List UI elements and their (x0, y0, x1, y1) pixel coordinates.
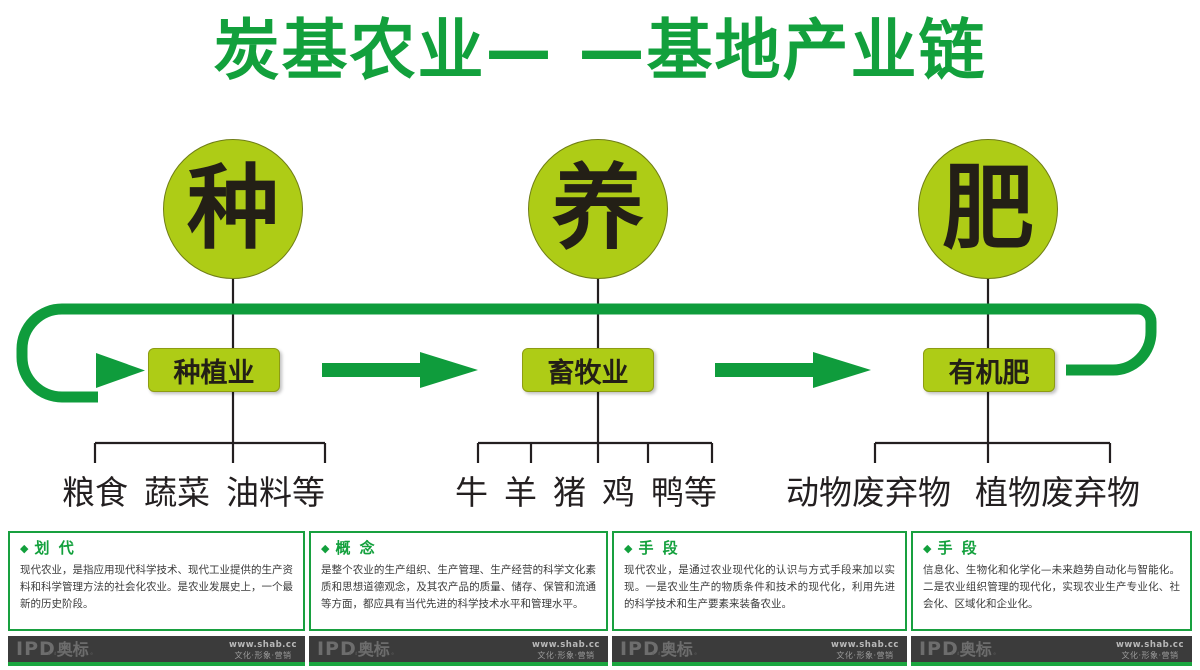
note-panel-concept-body: 是整个农业的生产组织、生产管理、生产经营的科学文化素质和思想道德观念，及其农产品… (321, 562, 596, 613)
circle-node-fertilizer[interactable]: 肥 (918, 139, 1058, 279)
note-panels: ◆划 代 现代农业，是指应用现代科学技术、现代工业提供的生产资料和科学管理方法的… (8, 531, 1192, 631)
leaf-item: 油料等 (226, 466, 325, 514)
footer-slogan: 文化·形象·营销 (1116, 651, 1184, 661)
leaf-item: 鸡 (602, 466, 635, 514)
note-panel-means-1-body: 现代农业，是通过农业现代化的认识与方式手段来加以实现。一是农业生产的物质条件和技… (624, 562, 895, 613)
brand-logo: IPD 奥标 a d v e r t i s e (317, 640, 390, 659)
loop-arrowhead (96, 353, 145, 388)
note-panel-means-2-heading-text: 手 段 (937, 539, 978, 557)
footer-url[interactable]: www.shab.cc (229, 640, 297, 651)
footer-url[interactable]: www.shab.cc (1116, 640, 1184, 651)
footer-cell: IPD 奥标 a d v e r t i s e www.shab.cc 文化·… (309, 636, 608, 666)
arrow-2-shaft (715, 363, 825, 377)
brand-logo: IPD 奥标 a d v e r t i s e (16, 640, 89, 659)
leaf-item: 粮食 (62, 466, 128, 514)
stage-box-planting-label: 种植业 (174, 351, 255, 390)
diamond-bullet-icon: ◆ (923, 542, 933, 555)
footer-slogan: 文化·形象·营销 (229, 651, 297, 661)
circle-node-livestock-label: 养 (552, 163, 644, 255)
diamond-bullet-icon: ◆ (624, 542, 634, 555)
circle-node-seed-label: 种 (187, 163, 279, 255)
circle-node-seed[interactable]: 种 (163, 139, 303, 279)
bracket-ticks-seed (95, 443, 325, 463)
leaf-group-crops: 粮食 蔬菜 油料等 (62, 466, 325, 514)
diamond-bullet-icon: ◆ (20, 542, 30, 555)
infographic-page: 炭基农业— —基地产业链 (0, 0, 1200, 670)
note-panel-concept: ◆概 念 是整个农业的生产组织、生产管理、生产经营的科学文化素质和思想道德观念，… (309, 531, 608, 631)
note-panel-means-2-heading: ◆手 段 (923, 541, 1180, 556)
footer-contact: www.shab.cc 文化·形象·营销 (532, 640, 600, 661)
arrow-1-shaft (322, 363, 432, 377)
stage-box-husbandry-label: 畜牧业 (548, 351, 629, 390)
footer-url[interactable]: www.shab.cc (831, 640, 899, 651)
footer-url[interactable]: www.shab.cc (532, 640, 600, 651)
footer-contact: www.shab.cc 文化·形象·营销 (831, 640, 899, 661)
leaf-item: 植物废弃物 (975, 466, 1140, 514)
leaf-item: 猪 (553, 466, 586, 514)
stage-box-husbandry[interactable]: 畜牧业 (522, 348, 654, 392)
note-panel-means-1: ◆手 段 现代农业，是通过农业现代化的认识与方式手段来加以实现。一是农业生产的物… (612, 531, 907, 631)
leaf-item: 羊 (504, 466, 537, 514)
note-panel-means-2: ◆手 段 信息化、生物化和化学化—未来趋势自动化与智能化。二是农业组织管理的现代… (911, 531, 1192, 631)
circle-node-fertilizer-label: 肥 (942, 163, 1034, 255)
footer-slogan: 文化·形象·营销 (532, 651, 600, 661)
diamond-bullet-icon: ◆ (321, 542, 331, 555)
note-panel-means-2-body: 信息化、生物化和化学化—未来趋势自动化与智能化。二是农业组织管理的现代化，实现农… (923, 562, 1180, 613)
brand-logo: IPD 奥标 a d v e r t i s e (620, 640, 693, 659)
note-panel-era-heading-text: 划 代 (34, 539, 75, 557)
footer-cell: IPD 奥标 a d v e r t i s e www.shab.cc 文化·… (612, 636, 907, 666)
brand-sub-text: a d v e r t i s e (652, 652, 698, 656)
footer-contact: www.shab.cc 文化·形象·营销 (229, 640, 297, 661)
leaf-group-animals: 牛 羊 猪 鸡 鸭等 (455, 466, 717, 514)
note-panel-means-1-heading-text: 手 段 (638, 539, 679, 557)
brand-logo: IPD 奥标 a d v e r t i s e (919, 640, 992, 659)
leaf-item: 蔬菜 (144, 466, 210, 514)
leaf-group-waste: 动物废弃物 植物废弃物 (786, 466, 1140, 514)
note-panel-means-1-heading: ◆手 段 (624, 541, 895, 556)
footer-cell: IPD 奥标 a d v e r t i s e www.shab.cc 文化·… (8, 636, 305, 666)
leaf-item: 牛 (455, 466, 488, 514)
process-diagram: 种 养 肥 种植业 畜牧业 有机肥 粮食 蔬菜 油料等 牛 羊 猪 鸡 鸭等 (0, 0, 1200, 525)
arrow-1-head (420, 352, 478, 388)
footer-slogan: 文化·形象·营销 (831, 651, 899, 661)
bracket-ticks-waste (875, 443, 1110, 463)
note-panel-era-heading: ◆划 代 (20, 541, 293, 556)
footer-bar: IPD 奥标 a d v e r t i s e www.shab.cc 文化·… (8, 636, 1192, 666)
note-panel-concept-heading: ◆概 念 (321, 541, 596, 556)
brand-sub-text: a d v e r t i s e (349, 652, 395, 656)
leaf-item: 动物废弃物 (786, 466, 951, 514)
note-panel-era: ◆划 代 现代农业，是指应用现代科学技术、现代工业提供的生产资料和科学管理方法的… (8, 531, 305, 631)
brand-sub-text: a d v e r t i s e (48, 652, 94, 656)
note-panel-era-body: 现代农业，是指应用现代科学技术、现代工业提供的生产资料和科学管理方法的社会化农业… (20, 562, 293, 613)
stage-box-organic-fertilizer-label: 有机肥 (949, 351, 1030, 390)
circle-node-livestock[interactable]: 养 (528, 139, 668, 279)
footer-cell: IPD 奥标 a d v e r t i s e www.shab.cc 文化·… (911, 636, 1192, 666)
note-panel-concept-heading-text: 概 念 (335, 539, 376, 557)
bracket-ticks-livestock (478, 443, 712, 463)
brand-sub-text: a d v e r t i s e (951, 652, 997, 656)
stage-box-organic-fertilizer[interactable]: 有机肥 (923, 348, 1055, 392)
leaf-item: 鸭等 (651, 466, 717, 514)
arrow-2-head (813, 352, 871, 388)
footer-contact: www.shab.cc 文化·形象·营销 (1116, 640, 1184, 661)
stage-box-planting[interactable]: 种植业 (148, 348, 280, 392)
